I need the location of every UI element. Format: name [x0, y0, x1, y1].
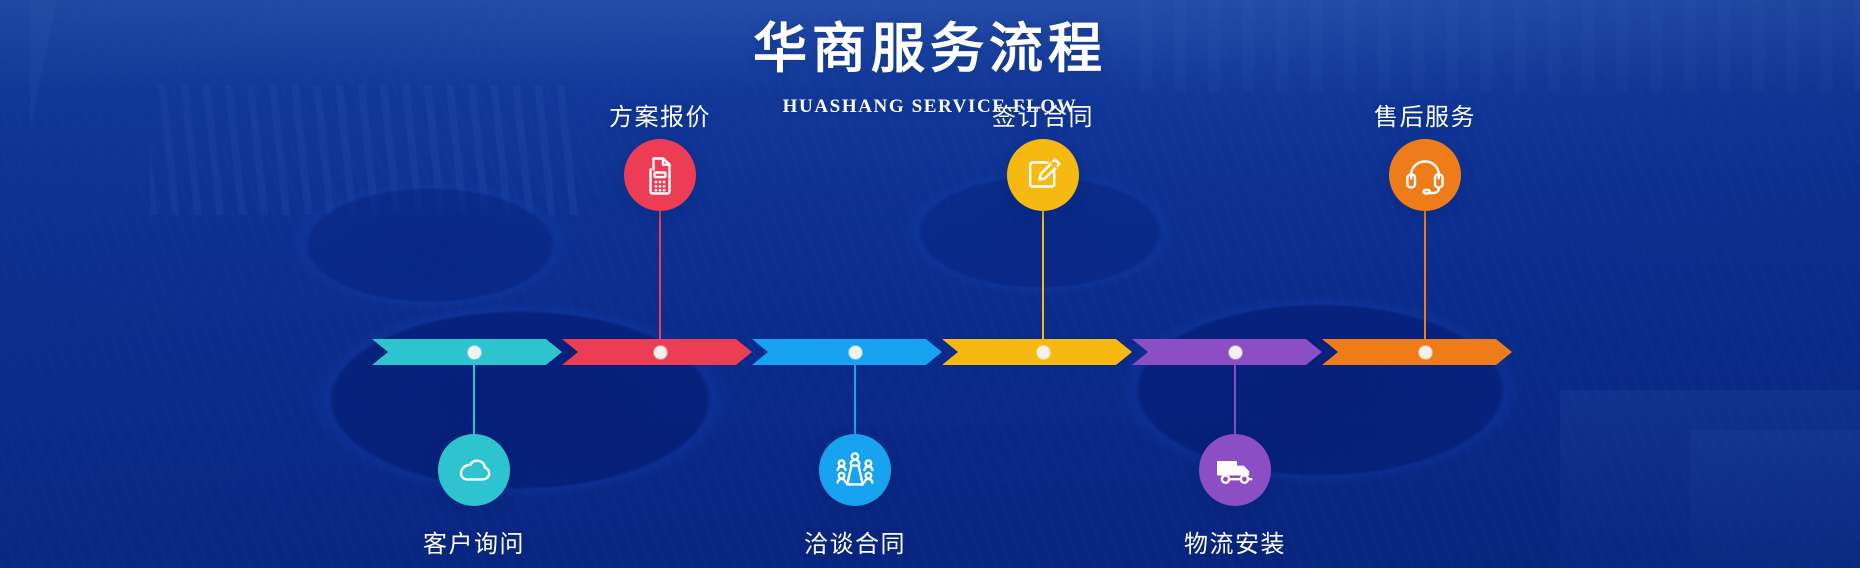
- flow-step-icon-bubble[interactable]: [1199, 434, 1271, 506]
- flow-node-dot: [468, 346, 481, 359]
- flow-step-icon-bubble[interactable]: [624, 139, 696, 211]
- banner-stage: 华商服务流程 HUASHANG SERVICE FLOW 客户询问 方案报价: [0, 0, 1860, 568]
- flow-step-label: 洽谈合同: [804, 524, 906, 559]
- flow-node-dot: [1419, 346, 1432, 359]
- flow-connector-stem: [1424, 211, 1426, 352]
- flow-step-label: 方案报价: [609, 97, 711, 132]
- flow-arrow-segment[interactable]: [1322, 339, 1512, 365]
- flow-step-label: 售后服务: [1374, 97, 1476, 132]
- flow-connector-stem: [659, 211, 661, 352]
- flow-connector-stem: [1042, 211, 1044, 352]
- flow-step-label: 客户询问: [423, 524, 525, 559]
- calculator-icon: [640, 154, 680, 196]
- meeting-table-icon: [834, 450, 876, 490]
- flow-connector-stem: [854, 352, 856, 434]
- flow-node-dot: [849, 346, 862, 359]
- flow-step-label: 签订合同: [992, 97, 1094, 132]
- flow-node-dot: [1229, 346, 1242, 359]
- headset-support-icon: [1403, 154, 1447, 196]
- flow-step-icon-bubble[interactable]: [819, 434, 891, 506]
- speech-bubble-icon: [454, 450, 494, 490]
- flow-connector-stem: [473, 352, 475, 434]
- flow-step-icon-bubble[interactable]: [1389, 139, 1461, 211]
- flow-node-dot: [654, 346, 667, 359]
- flow-connector-stem: [1234, 352, 1236, 434]
- service-flow-diagram: 客户询问 方案报价: [0, 0, 1860, 568]
- flow-node-dot: [1037, 346, 1050, 359]
- pencil-edit-icon: [1022, 154, 1064, 196]
- delivery-truck-icon: [1213, 451, 1257, 489]
- flow-step-icon-bubble[interactable]: [1007, 139, 1079, 211]
- flow-arrow-segment[interactable]: [752, 339, 942, 365]
- flow-step-icon-bubble[interactable]: [438, 434, 510, 506]
- flow-arrow-segment[interactable]: [1132, 339, 1322, 365]
- flow-step-label: 物流安装: [1184, 524, 1286, 559]
